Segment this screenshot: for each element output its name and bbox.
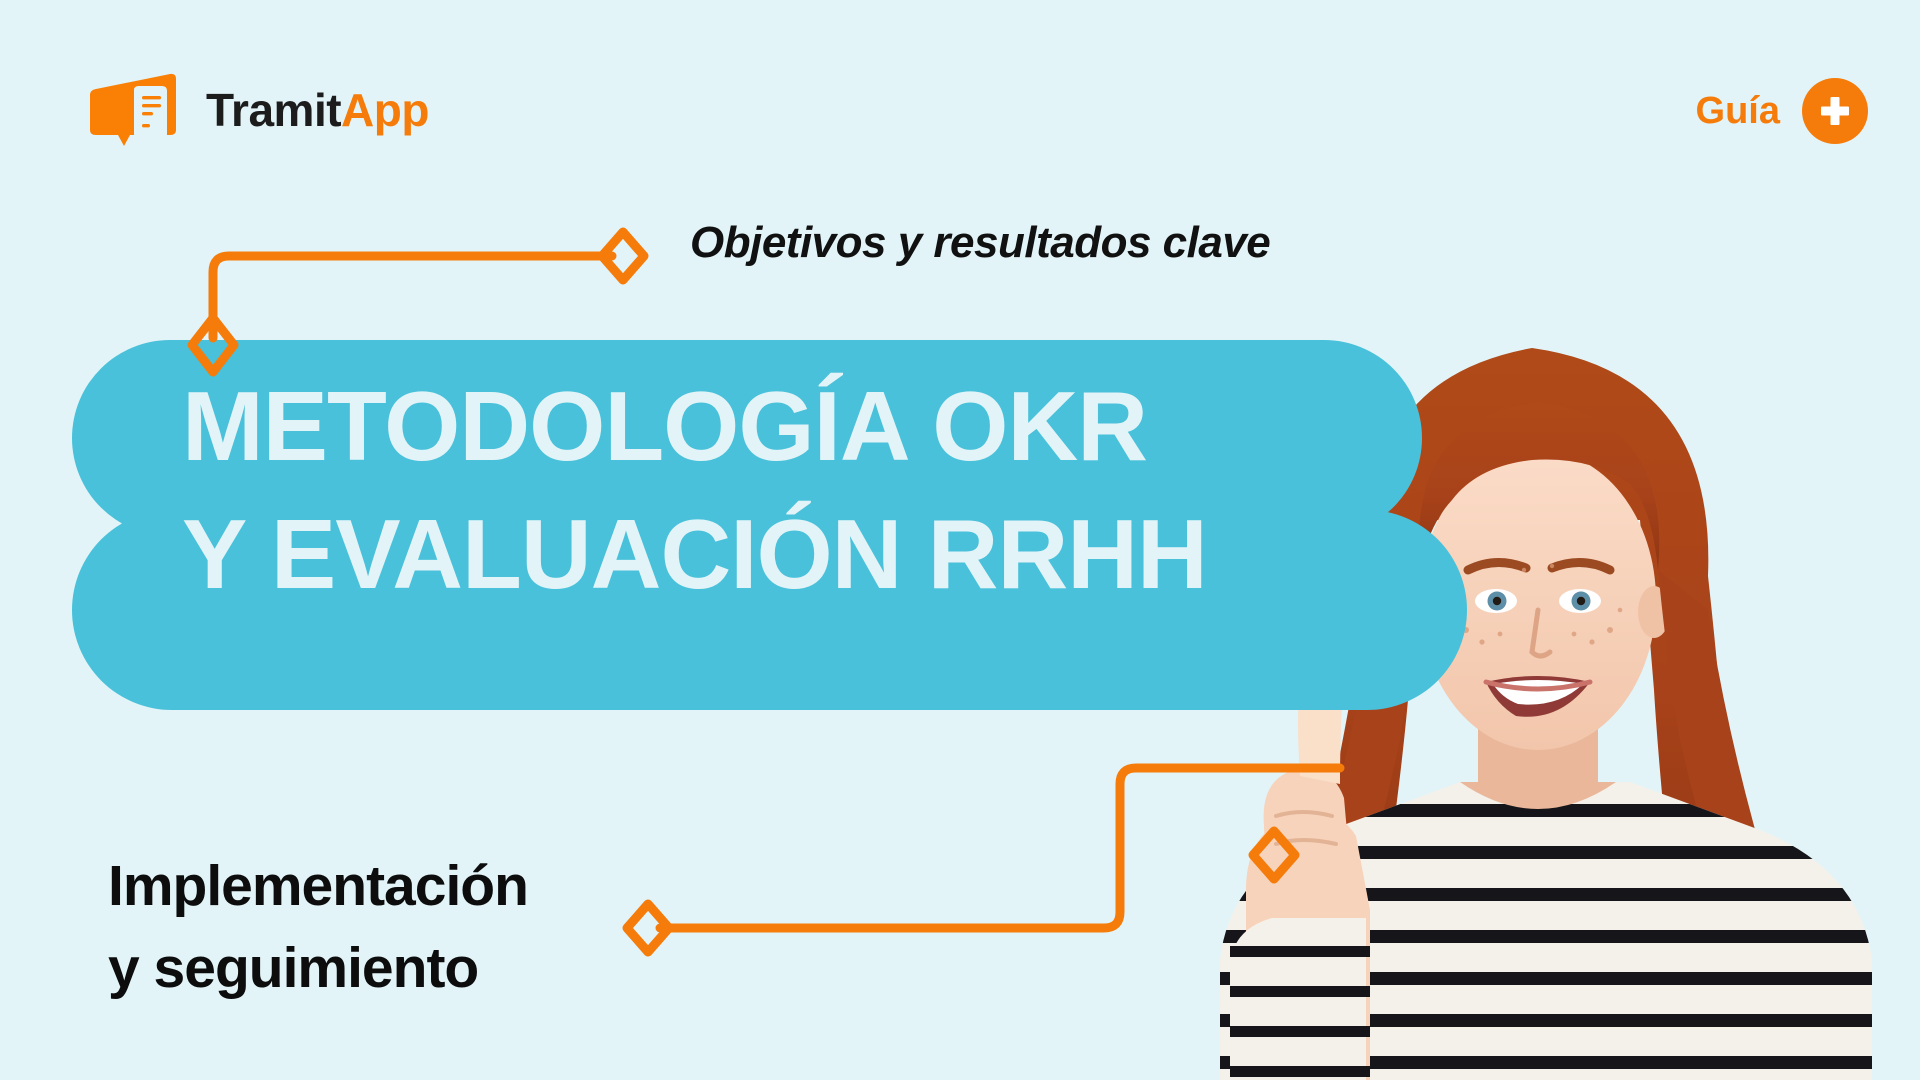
guide-label: Guía bbox=[1696, 92, 1780, 130]
title-line-1: METODOLOGÍA OKR bbox=[182, 362, 1482, 490]
title-line-2: Y EVALUACIÓN RRHH bbox=[182, 490, 1482, 618]
brand-wordmark: TramitApp bbox=[206, 87, 429, 133]
diamond-marker-bottom-callout bbox=[627, 904, 669, 952]
slide-canvas: METODOLOGÍA OKR Y EVALUACIÓN RRHH Objeti… bbox=[0, 0, 1920, 1080]
guide-plus-button[interactable] bbox=[1802, 78, 1868, 144]
title-highlight-block: METODOLOGÍA OKR Y EVALUACIÓN RRHH bbox=[72, 340, 1452, 710]
callout-bottom-line-2: y seguimiento bbox=[108, 927, 528, 1009]
callout-top-text: Objetivos y resultados clave bbox=[690, 218, 1270, 268]
guide-control[interactable]: Guía bbox=[1696, 78, 1868, 144]
wordmark-part-2: App bbox=[341, 87, 429, 133]
megaphone-document-icon bbox=[82, 72, 190, 148]
callout-bottom-line-1: Implementación bbox=[108, 845, 528, 927]
diamond-marker-floating bbox=[1253, 831, 1295, 879]
brand-logo[interactable]: TramitApp bbox=[82, 72, 429, 148]
plus-icon-vertical bbox=[1831, 97, 1840, 125]
callout-bottom-text: Implementación y seguimiento bbox=[108, 845, 528, 1009]
diamond-marker-top-callout bbox=[602, 232, 644, 280]
page-title: METODOLOGÍA OKR Y EVALUACIÓN RRHH bbox=[182, 362, 1482, 618]
wordmark-part-1: Tramit bbox=[206, 87, 341, 133]
